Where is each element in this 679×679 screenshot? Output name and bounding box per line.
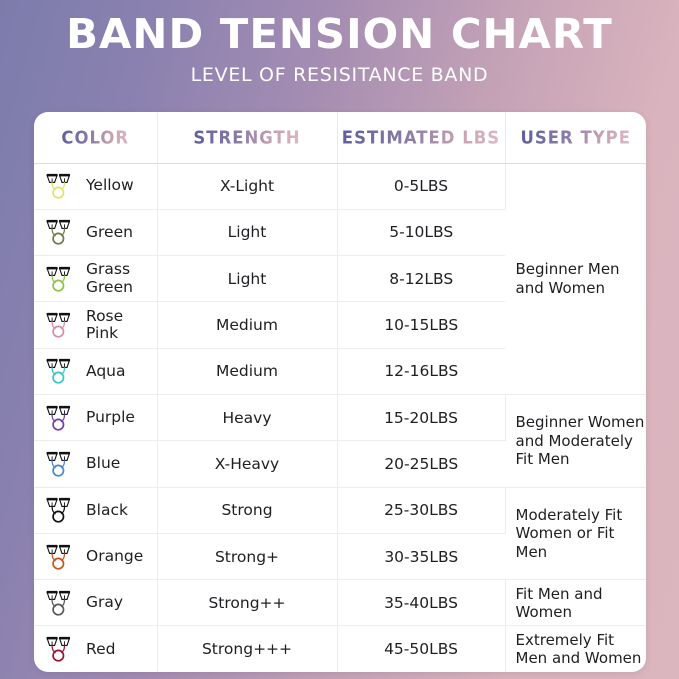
cell-strength: X-Light [157, 163, 337, 209]
band-color-name: Blue [86, 455, 120, 472]
cell-estimated-lbs: 30-35LBS [337, 533, 505, 579]
table-body: YellowX-Light0-5LBSBeginner Men and Wome… [34, 163, 646, 672]
cell-user-type: Beginner Men and Women [505, 163, 646, 394]
cell-strength: Medium [157, 348, 337, 394]
band-tension-table: COLOR STRENGTH ESTIMATED LBS USER TYPE Y… [34, 112, 646, 672]
table-row: PurpleHeavy15-20LBSBeginner Women and Mo… [34, 394, 646, 440]
cell-color: Purple [34, 394, 157, 440]
table-header: COLOR STRENGTH ESTIMATED LBS USER TYPE [34, 112, 646, 163]
cell-strength: Strong+++ [157, 626, 337, 672]
estimated-lbs-value: 12-16LBS [384, 362, 458, 380]
cell-user-type: Fit Men and Women [505, 580, 646, 626]
cell-estimated-lbs: 20-25LBS [337, 441, 505, 487]
table-row: YellowX-Light0-5LBSBeginner Men and Wome… [34, 163, 646, 209]
band-color-name: Gray [86, 594, 123, 611]
page-title: BAND TENSION CHART [0, 14, 679, 55]
cell-estimated-lbs: 25-30LBS [337, 487, 505, 533]
resistance-band-icon [44, 586, 78, 620]
table-row: GrayStrong++35-40LBSFit Men and Women [34, 580, 646, 626]
band-color-name: Purple [86, 409, 135, 426]
band-color-name: Aqua [86, 363, 126, 380]
estimated-lbs-value: 30-35LBS [384, 548, 458, 566]
user-type-value: Extremely Fit Men and Women [516, 631, 647, 668]
strength-value: Medium [216, 316, 278, 334]
cell-color: Black [34, 487, 157, 533]
band-color-name: Red [86, 641, 115, 658]
cell-strength: X-Heavy [157, 441, 337, 487]
column-header-estimated-lbs: ESTIMATED LBS [337, 112, 505, 163]
estimated-lbs-value: 35-40LBS [384, 594, 458, 612]
cell-estimated-lbs: 0-5LBS [337, 163, 505, 209]
column-header-estimated-lbs-label: ESTIMATED LBS [342, 127, 500, 147]
column-header-color: COLOR [34, 112, 157, 163]
column-header-color-label: COLOR [61, 127, 129, 147]
cell-strength: Strong++ [157, 580, 337, 626]
cell-user-type: Beginner Women and Moderately Fit Men [505, 394, 646, 487]
cell-strength: Light [157, 209, 337, 255]
user-type-value: Beginner Men and Women [516, 260, 647, 297]
cell-strength: Heavy [157, 394, 337, 440]
cell-estimated-lbs: 8-12LBS [337, 256, 505, 302]
cell-color: Orange [34, 533, 157, 579]
strength-value: X-Heavy [215, 455, 279, 473]
estimated-lbs-value: 5-10LBS [389, 223, 453, 241]
band-color-name: Orange [86, 548, 143, 565]
table-card: COLOR STRENGTH ESTIMATED LBS USER TYPE Y… [34, 112, 646, 672]
cell-color: Rose Pink [34, 302, 157, 348]
strength-value: Light [228, 223, 267, 241]
resistance-band-icon [44, 540, 78, 574]
cell-estimated-lbs: 15-20LBS [337, 394, 505, 440]
chart-header: BAND TENSION CHART LEVEL OF RESISITANCE … [0, 0, 679, 86]
cell-color: Gray [34, 580, 157, 626]
strength-value: Strong [221, 501, 272, 519]
cell-estimated-lbs: 10-15LBS [337, 302, 505, 348]
cell-estimated-lbs: 45-50LBS [337, 626, 505, 672]
column-header-strength: STRENGTH [157, 112, 337, 163]
cell-estimated-lbs: 12-16LBS [337, 348, 505, 394]
band-color-name: Rose Pink [86, 308, 123, 343]
strength-value: Strong+++ [202, 640, 292, 658]
cell-strength: Medium [157, 302, 337, 348]
page-subtitle: LEVEL OF RESISITANCE BAND [0, 64, 679, 86]
resistance-band-icon [44, 354, 78, 388]
cell-strength: Strong+ [157, 533, 337, 579]
table-row: RedStrong+++45-50LBSExtremely Fit Men an… [34, 626, 646, 672]
cell-color: Red [34, 626, 157, 672]
estimated-lbs-value: 20-25LBS [384, 455, 458, 473]
user-type-value: Moderately Fit Women or Fit Men [516, 506, 647, 561]
resistance-band-icon [44, 493, 78, 527]
strength-value: X-Light [220, 177, 274, 195]
estimated-lbs-value: 0-5LBS [394, 177, 448, 195]
cell-color: Green [34, 209, 157, 255]
cell-color: Blue [34, 441, 157, 487]
strength-value: Strong+ [215, 548, 279, 566]
resistance-band-icon [44, 262, 78, 296]
cell-strength: Strong [157, 487, 337, 533]
strength-value: Medium [216, 362, 278, 380]
cell-color: Grass Green [34, 256, 157, 302]
estimated-lbs-value: 8-12LBS [389, 270, 453, 288]
user-type-value: Beginner Women and Moderately Fit Men [516, 413, 647, 468]
cell-user-type: Extremely Fit Men and Women [505, 626, 646, 672]
cell-strength: Light [157, 256, 337, 302]
cell-estimated-lbs: 5-10LBS [337, 209, 505, 255]
cell-color: Yellow [34, 163, 157, 209]
estimated-lbs-value: 45-50LBS [384, 640, 458, 658]
resistance-band-icon [44, 308, 78, 342]
estimated-lbs-value: 15-20LBS [384, 409, 458, 427]
user-type-value: Fit Men and Women [516, 585, 647, 622]
cell-estimated-lbs: 35-40LBS [337, 580, 505, 626]
estimated-lbs-value: 25-30LBS [384, 501, 458, 519]
strength-value: Light [228, 270, 267, 288]
resistance-band-icon [44, 447, 78, 481]
strength-value: Heavy [222, 409, 271, 427]
column-header-user-type-label: USER TYPE [520, 127, 631, 147]
resistance-band-icon [44, 215, 78, 249]
resistance-band-icon [44, 401, 78, 435]
table-header-row: COLOR STRENGTH ESTIMATED LBS USER TYPE [34, 112, 646, 163]
column-header-user-type: USER TYPE [505, 112, 646, 163]
band-color-name: Green [86, 224, 133, 241]
estimated-lbs-value: 10-15LBS [384, 316, 458, 334]
resistance-band-icon [44, 632, 78, 666]
column-header-strength-label: STRENGTH [193, 127, 300, 147]
resistance-band-icon [44, 169, 78, 203]
band-color-name: Black [86, 502, 128, 519]
table-row: BlackStrong25-30LBSModerately Fit Women … [34, 487, 646, 533]
band-color-name: Yellow [86, 177, 134, 194]
band-color-name: Grass Green [86, 261, 133, 296]
cell-user-type: Moderately Fit Women or Fit Men [505, 487, 646, 580]
cell-color: Aqua [34, 348, 157, 394]
strength-value: Strong++ [208, 594, 285, 612]
